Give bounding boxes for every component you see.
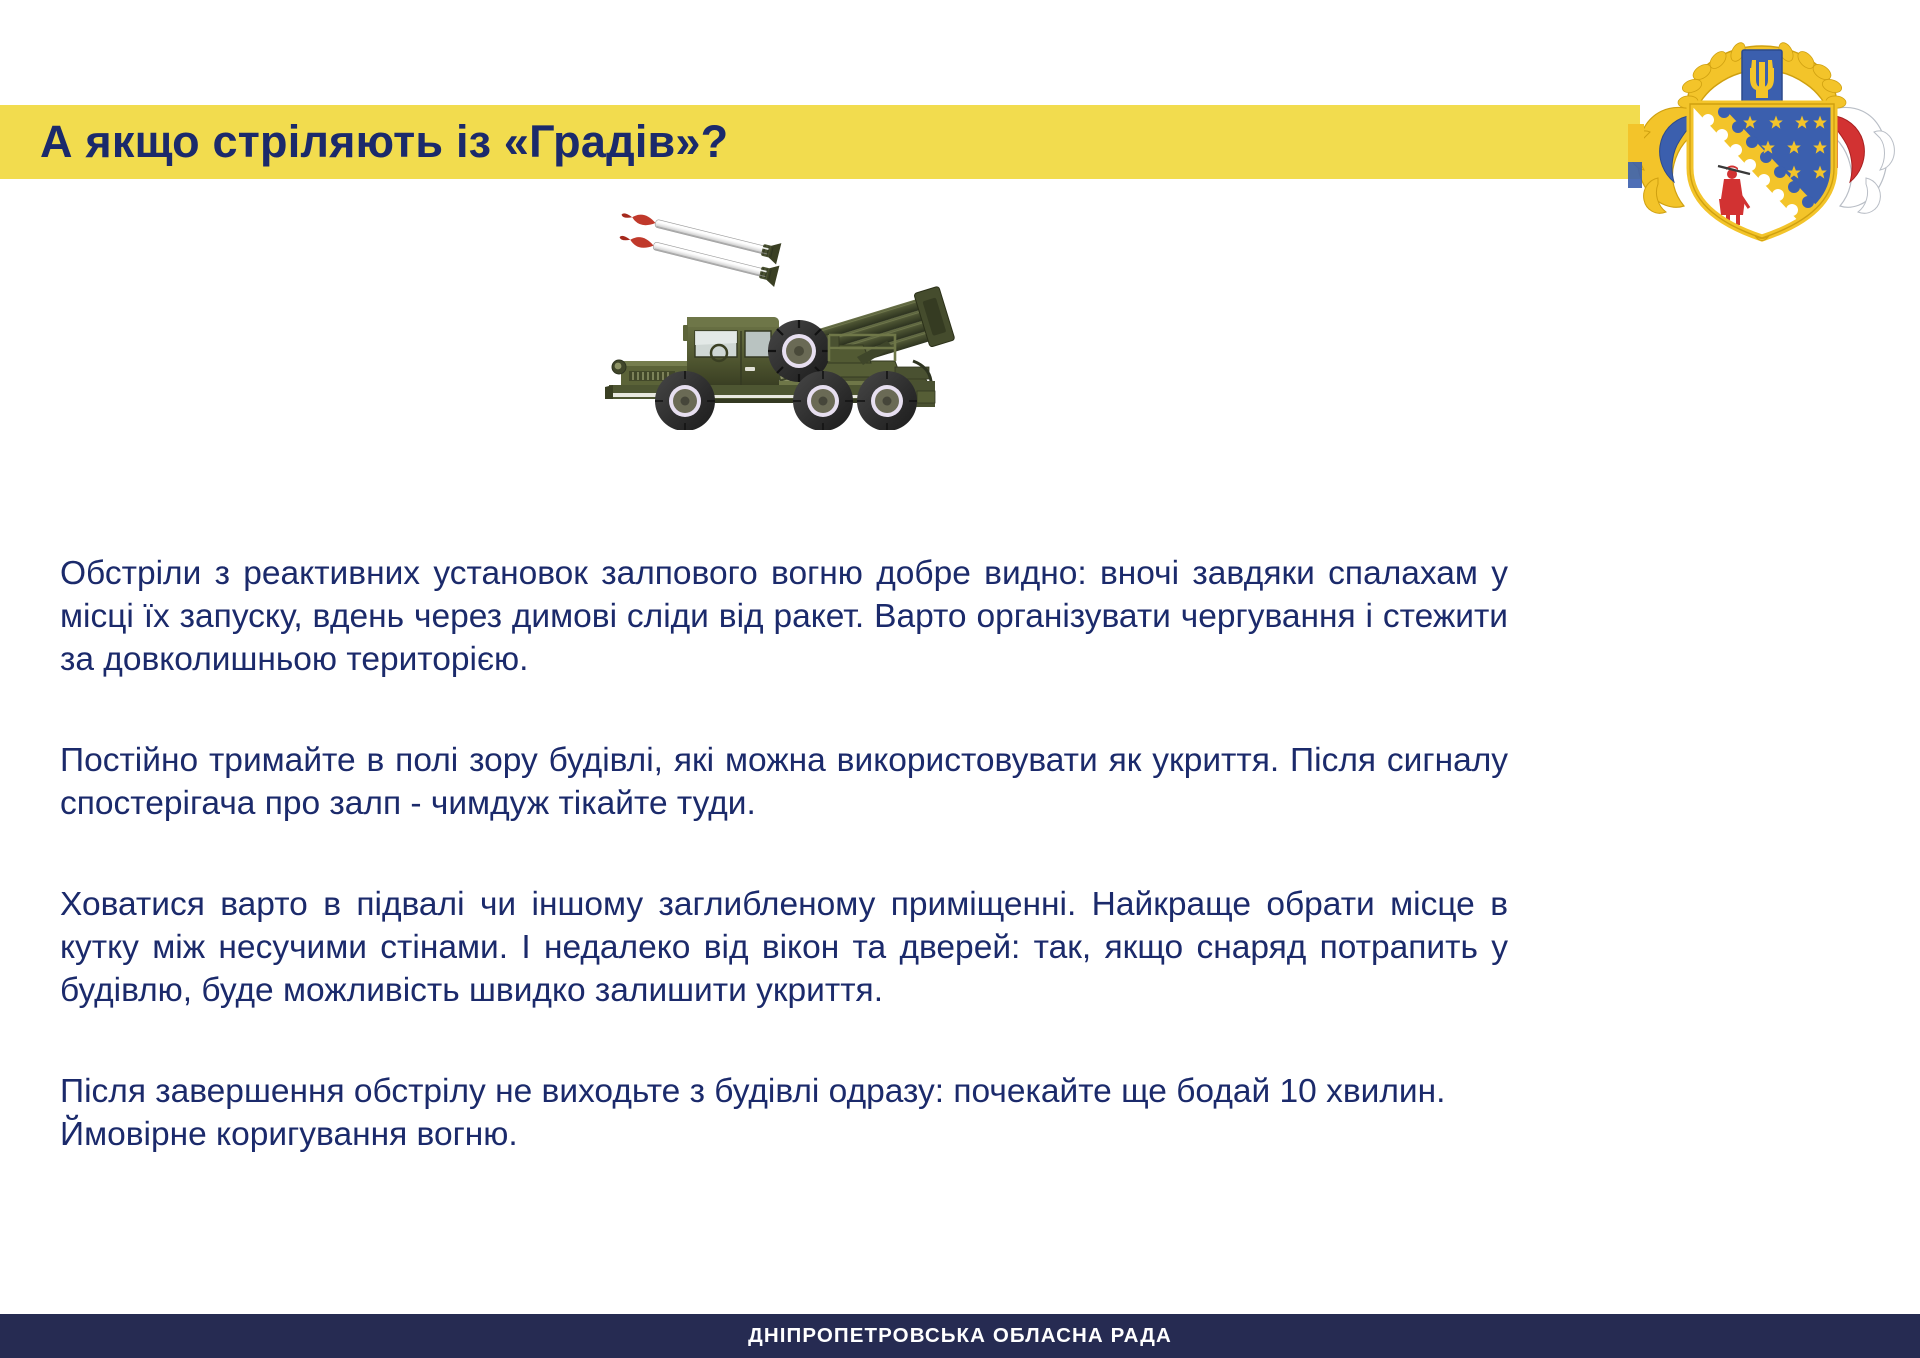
dnipropetrovsk-oblast-coat-of-arms-icon xyxy=(1628,28,1896,243)
bm21-grad-rocket-launcher-illustration xyxy=(595,185,1035,430)
emblem-shield xyxy=(1690,104,1834,241)
wheel-front xyxy=(655,371,715,430)
page-title: А якщо стріляють із «Градів»? xyxy=(40,107,1600,177)
paragraph-2: Постійно тримайте в полі зору будівлі, я… xyxy=(60,739,1508,825)
paragraph-4: Після завершення обстрілу не виходьте з … xyxy=(60,1070,1508,1156)
body-copy: Обстріли з реактивних установок залповог… xyxy=(60,552,1508,1156)
grad-truck-chassis xyxy=(605,317,935,430)
wheel-middle xyxy=(793,371,853,430)
wheel-rear xyxy=(857,371,917,430)
paragraph-1: Обстріли з реактивних установок залповог… xyxy=(60,552,1508,681)
footer-organization-label: ДНІПРОПЕТРОВСЬКА ОБЛАСНА РАДА xyxy=(0,1314,1920,1358)
paragraph-3: Ховатися варто в підвалі чи іншому загли… xyxy=(60,883,1508,1012)
